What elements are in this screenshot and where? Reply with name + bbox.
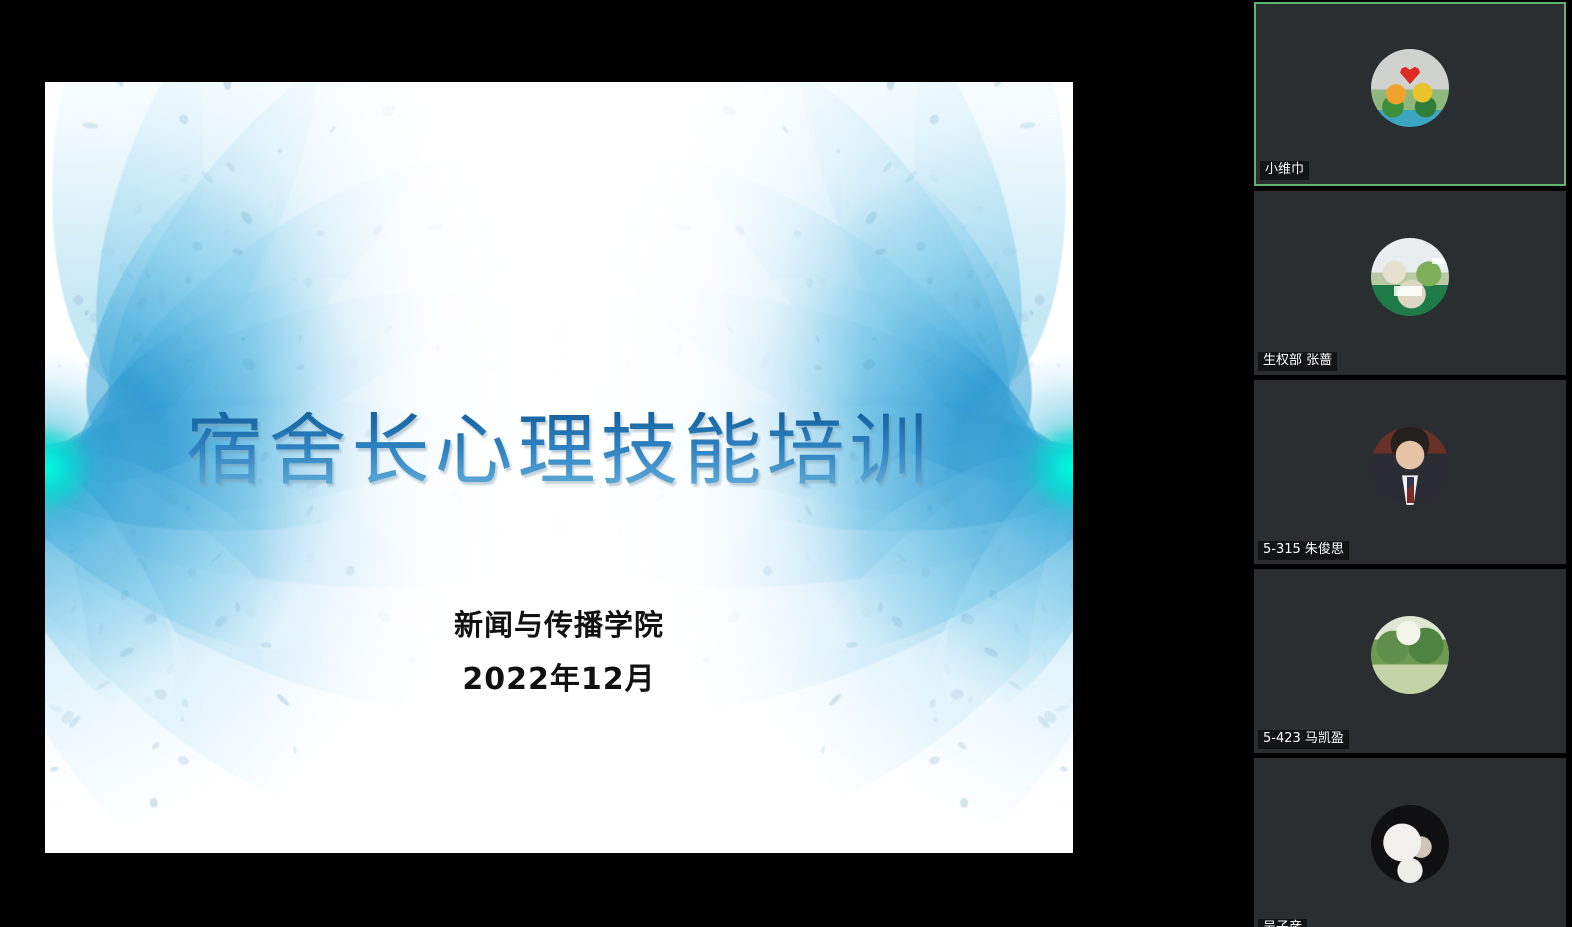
avatar (1371, 805, 1449, 883)
shared-screen-stage: 宿舍长心理技能培训 新闻与传播学院 2022年12月 (0, 0, 1248, 927)
participant-tile[interactable]: 吴子彦 (1254, 758, 1566, 927)
participant-name: 5-315 朱俊思 (1258, 541, 1349, 560)
slide-text-block: 宿舍长心理技能培训 新闻与传播学院 2022年12月 (45, 82, 1073, 853)
avatar-image (1371, 427, 1449, 505)
avatar (1371, 427, 1449, 505)
participant-name: 吴子彦 (1258, 919, 1307, 927)
participant-tile[interactable]: 5-423 马凯盈 (1254, 569, 1566, 753)
avatar-image (1371, 805, 1449, 883)
participant-tile[interactable]: 5-315 朱俊思 (1254, 380, 1566, 564)
slide-organization: 新闻与传播学院 (45, 602, 1073, 644)
slide-title: 宿舍长心理技能培训 (45, 412, 1073, 490)
participant-name: 小维巾 (1260, 161, 1309, 180)
avatar (1371, 616, 1449, 694)
avatar-image (1371, 616, 1449, 694)
slide-date: 2022年12月 (45, 654, 1073, 698)
avatar-image (1371, 49, 1449, 127)
participant-name: 5-423 马凯盈 (1258, 730, 1349, 749)
avatar (1371, 238, 1449, 316)
presentation-slide: 宿舍长心理技能培训 新闻与传播学院 2022年12月 (45, 82, 1073, 853)
meeting-window: 宿舍长心理技能培训 新闻与传播学院 2022年12月 小维巾生权部 张蔷5-31… (0, 0, 1572, 927)
participant-name: 生权部 张蔷 (1258, 352, 1337, 371)
participant-filmstrip[interactable]: 小维巾生权部 张蔷5-315 朱俊思5-423 马凯盈吴子彦 (1248, 0, 1572, 927)
avatar (1371, 49, 1449, 127)
participant-tile[interactable]: 生权部 张蔷 (1254, 191, 1566, 375)
avatar-image (1371, 238, 1449, 316)
participant-tile[interactable]: 小维巾 (1254, 2, 1566, 186)
